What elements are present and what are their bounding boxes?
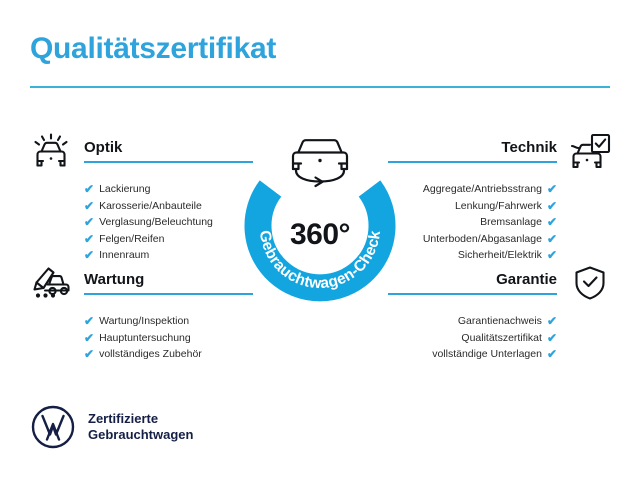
section-garantie: Garantie Garantienachweis✔ Qualitätszert… xyxy=(388,260,613,363)
list-item: Lenkung/Fahrwerk✔ xyxy=(388,198,557,215)
list-item: ✔Wartung/Inspektion xyxy=(84,313,253,330)
list-item-label: Aggregate/Antriebsstrang xyxy=(423,181,542,198)
list-item-label: vollständiges Zubehör xyxy=(99,346,202,363)
section-title-technik: Technik xyxy=(388,139,557,156)
check-icon: ✔ xyxy=(547,348,557,360)
check-icon: ✔ xyxy=(547,200,557,212)
check-icon: ✔ xyxy=(84,315,94,327)
check-icon: ✔ xyxy=(84,233,94,245)
list-item-label: Wartung/Inspektion xyxy=(99,313,189,330)
check-icon: ✔ xyxy=(84,183,94,195)
list-item: ✔Hauptuntersuchung xyxy=(84,330,253,347)
list-item: ✔Felgen/Reifen xyxy=(84,231,253,248)
list-item-label: Bremsanlage xyxy=(480,214,542,231)
checklist-garantie: Garantienachweis✔ Qualitätszertifikat✔ v… xyxy=(388,313,613,363)
list-item: ✔Verglasung/Beleuchtung xyxy=(84,214,253,231)
check-icon: ✔ xyxy=(84,348,94,360)
list-item-label: Verglasung/Beleuchtung xyxy=(99,214,213,231)
check-icon: ✔ xyxy=(547,183,557,195)
list-item: Bremsanlage✔ xyxy=(388,214,557,231)
list-item-label: Hauptuntersuchung xyxy=(99,330,191,347)
footer-line-2: Gebrauchtwagen xyxy=(88,427,193,443)
section-underline-optik xyxy=(84,161,253,163)
list-item: ✔Karosserie/Anbauteile xyxy=(84,198,253,215)
footer-brand: Zertifizierte Gebrauchtwagen xyxy=(30,404,193,450)
section-wartung: Wartung ✔Wartung/Inspektion ✔Hauptunters… xyxy=(28,260,253,363)
list-item: Qualitätszertifikat✔ xyxy=(388,330,557,347)
list-item: ✔Lackierung xyxy=(84,181,253,198)
section-title-garantie: Garantie xyxy=(388,271,557,288)
checklist-technik: Aggregate/Antriebsstrang✔ Lenkung/Fahrwe… xyxy=(388,181,613,264)
section-underline-technik xyxy=(388,161,557,163)
shield-check-icon xyxy=(567,262,613,304)
section-underline-wartung xyxy=(84,293,253,295)
list-item: vollständige Unterlagen✔ xyxy=(388,346,557,363)
check-icon: ✔ xyxy=(84,332,94,344)
car-checkbox-icon xyxy=(567,130,613,172)
list-item-label: Garantienachweis xyxy=(458,313,542,330)
section-title-wartung: Wartung xyxy=(84,271,253,288)
badge-360-gebrauchtwagen-check: Gebrauchtwagen-Check 360° xyxy=(244,126,396,302)
car-service-pen-icon xyxy=(28,262,74,304)
check-icon: ✔ xyxy=(547,216,557,228)
check-icon: ✔ xyxy=(84,216,94,228)
header-divider xyxy=(30,86,610,88)
list-item-label: Lackierung xyxy=(99,181,150,198)
page-title: Qualitätszertifikat xyxy=(30,32,276,66)
list-item-label: Karosserie/Anbauteile xyxy=(99,198,202,215)
section-title-optik: Optik xyxy=(84,139,253,156)
check-icon: ✔ xyxy=(547,332,557,344)
list-item-label: Qualitätszertifikat xyxy=(461,330,542,347)
car-rotate-icon xyxy=(293,140,347,186)
list-item-label: vollständige Unterlagen xyxy=(432,346,542,363)
check-icon: ✔ xyxy=(547,315,557,327)
checklist-optik: ✔Lackierung ✔Karosserie/Anbauteile ✔Verg… xyxy=(28,181,253,264)
section-underline-garantie xyxy=(388,293,557,295)
checklist-wartung: ✔Wartung/Inspektion ✔Hauptuntersuchung ✔… xyxy=(28,313,253,363)
check-icon: ✔ xyxy=(547,233,557,245)
list-item: Unterboden/Abgasanlage✔ xyxy=(388,231,557,248)
list-item-label: Lenkung/Fahrwerk xyxy=(455,198,542,215)
footer-line-1: Zertifizierte xyxy=(88,411,193,427)
list-item: Garantienachweis✔ xyxy=(388,313,557,330)
section-optik: Optik ✔Lackierung ✔Karosserie/Anbauteile… xyxy=(28,128,253,264)
badge-center-label: 360° xyxy=(244,218,396,252)
list-item: Aggregate/Antriebsstrang✔ xyxy=(388,181,557,198)
list-item-label: Unterboden/Abgasanlage xyxy=(423,231,542,248)
footer-text: Zertifizierte Gebrauchtwagen xyxy=(88,411,193,443)
volkswagen-logo xyxy=(30,404,76,450)
list-item-label: Felgen/Reifen xyxy=(99,231,164,248)
list-item: ✔vollständiges Zubehör xyxy=(84,346,253,363)
check-icon: ✔ xyxy=(84,200,94,212)
section-technik: Technik Aggregate/Antriebsstrang✔ Lenkun… xyxy=(388,128,613,264)
car-shine-icon xyxy=(28,130,74,172)
